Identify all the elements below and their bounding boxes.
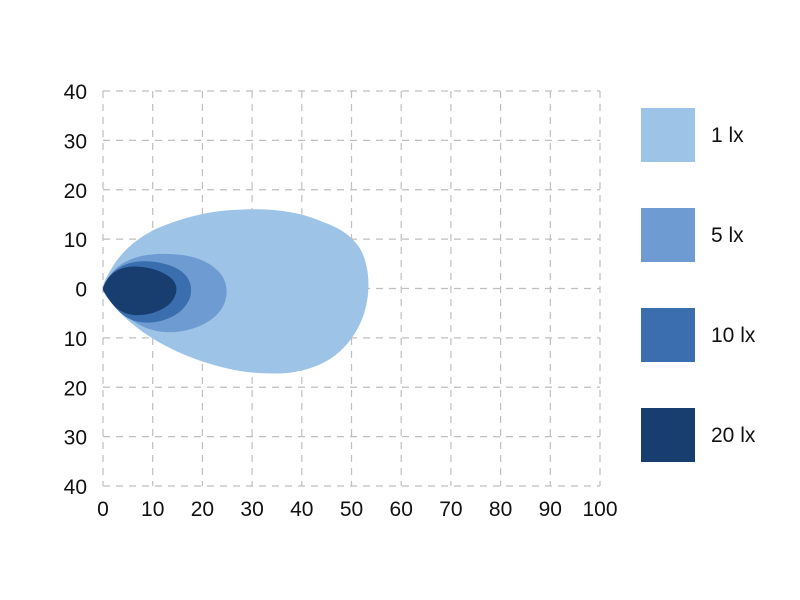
isolux-chart-page: 40302010010203040 0102030405060708090100… xyxy=(0,0,800,600)
legend-item[interactable]: 1 lx xyxy=(641,108,791,162)
y-tick-label: 0 xyxy=(75,279,87,302)
legend-label-1lx: 1 lx xyxy=(711,125,744,146)
legend-swatch-10lx xyxy=(641,308,695,362)
legend-item[interactable]: 20 lx xyxy=(641,408,791,462)
x-tick-label: 70 xyxy=(439,498,462,521)
y-tick-label: 30 xyxy=(64,130,87,153)
y-tick-label: 40 xyxy=(64,476,87,499)
y-tick-label: 20 xyxy=(64,180,87,203)
x-tick-label: 20 xyxy=(191,498,214,521)
y-axis-tick-labels: 40302010010203040 xyxy=(64,81,87,499)
x-tick-label: 30 xyxy=(240,498,263,521)
legend-item[interactable]: 5 lx xyxy=(641,208,791,262)
x-tick-label: 90 xyxy=(539,498,562,521)
legend-item[interactable]: 10 lx xyxy=(641,308,791,362)
contour-areas xyxy=(103,209,369,373)
legend-label-20lx: 20 lx xyxy=(711,425,755,446)
x-tick-label: 100 xyxy=(582,498,617,521)
legend-label-5lx: 5 lx xyxy=(711,225,744,246)
legend-swatch-5lx xyxy=(641,208,695,262)
y-tick-label: 40 xyxy=(64,81,87,104)
y-tick-label: 30 xyxy=(64,427,87,450)
y-tick-label: 10 xyxy=(64,328,87,351)
x-tick-label: 50 xyxy=(340,498,363,521)
x-tick-label: 10 xyxy=(141,498,164,521)
x-tick-label: 80 xyxy=(489,498,512,521)
y-tick-label: 20 xyxy=(64,377,87,400)
x-tick-label: 60 xyxy=(390,498,413,521)
chart-legend: 1 lx 5 lx 10 lx 20 lx xyxy=(641,108,791,462)
legend-label-10lx: 10 lx xyxy=(711,325,755,346)
x-axis-tick-labels: 0102030405060708090100 xyxy=(97,498,617,521)
x-tick-label: 40 xyxy=(290,498,313,521)
legend-swatch-20lx xyxy=(641,408,695,462)
legend-swatch-1lx xyxy=(641,108,695,162)
y-tick-label: 10 xyxy=(64,229,87,252)
x-tick-label: 0 xyxy=(97,498,109,521)
